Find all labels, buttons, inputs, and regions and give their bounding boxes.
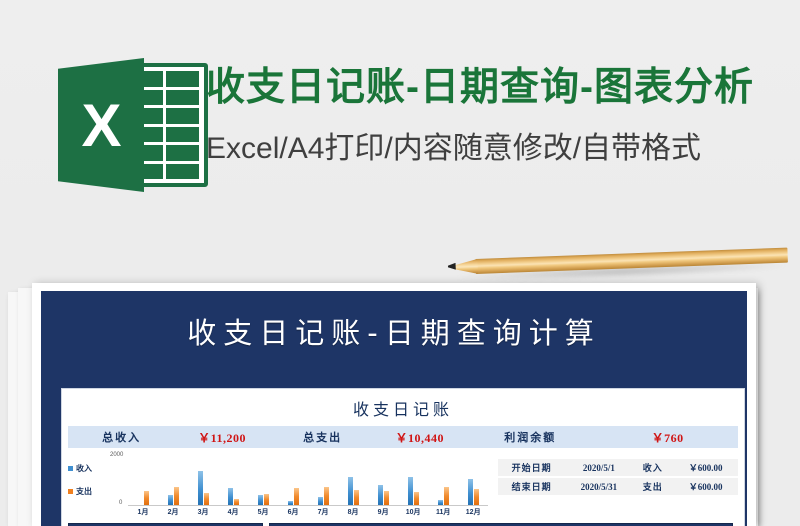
summary-label-total-income: 总收入	[68, 429, 175, 445]
chart-bar	[294, 488, 299, 505]
summary-label-total-expense: 总支出	[269, 429, 376, 445]
chart-bar-group	[278, 457, 308, 505]
chart-bar	[174, 487, 179, 505]
template-preview-sheet: 收支日记账-日期查询计算 收支日记账 总收入 ￥11,200 总支出 ￥10,4…	[32, 283, 756, 526]
chart-bars	[128, 457, 488, 506]
chart-bar-group	[428, 457, 458, 505]
x-axis-tick-label: 11月	[428, 507, 458, 519]
expense-amount: ￥600.00	[673, 480, 738, 493]
chart-bar	[474, 489, 479, 505]
date-query-table: 开始日期 2020/5/1 收入 ￥600.00 结束日期 2020/5/31 …	[490, 451, 738, 519]
template-navy-frame: 收支日记账-日期查询计算 收支日记账 总收入 ￥11,200 总支出 ￥10,4…	[41, 291, 747, 526]
x-axis-tick-label: 5月	[248, 507, 278, 519]
chart-bar	[204, 493, 209, 505]
chart-bar	[264, 494, 269, 505]
x-axis-tick-label: 2月	[158, 507, 188, 519]
x-axis-tick-label: 7月	[308, 507, 338, 519]
x-axis-tick-label: 4月	[218, 507, 248, 519]
summary-value-profit-balance: ￥760	[597, 429, 738, 446]
chart-bar	[414, 492, 419, 505]
pencil-tip-icon	[448, 263, 456, 270]
x-axis-tick-label: 1月	[128, 507, 158, 519]
start-date-label: 开始日期	[498, 461, 565, 474]
chart-bar	[384, 491, 389, 505]
chart-bar	[468, 479, 473, 505]
table-row: 结束日期 2020/5/31 支出 ￥600.00	[498, 478, 738, 497]
x-axis-tick-label: 6月	[278, 507, 308, 519]
summary-value-total-income: ￥11,200	[175, 429, 269, 446]
table-row: 开始日期 2020/5/1 收入 ￥600.00	[498, 459, 738, 478]
x-axis-tick-label: 8月	[338, 507, 368, 519]
chart-bar-group	[368, 457, 398, 505]
summary-label-profit-balance: 利润余额	[463, 429, 597, 445]
promo-banner: X 收支日记账-日期查询-图表分析 Excel/A4打印/内容随意修改/自带格式	[0, 0, 800, 250]
y-axis-tick-max: 2000	[110, 452, 123, 458]
banner-subtitle: Excel/A4打印/内容随意修改/自带格式	[206, 132, 701, 165]
chart-bar	[198, 471, 203, 505]
legend-label-expense: 支出	[76, 486, 92, 497]
chart-bar	[348, 477, 353, 505]
chart-plot-area: 2000 0 1月2月3月4月5月6月7月8月9月10月11月12月	[110, 451, 490, 519]
worksheet-panel: 收支日记账 总收入 ￥11,200 总支出 ￥10,440 利润余额 ￥760 …	[61, 388, 745, 526]
chart-bar-group	[398, 457, 428, 505]
chart-bar	[444, 487, 449, 505]
income-amount: ￥600.00	[673, 461, 738, 474]
legend-swatch-icon-income	[68, 466, 73, 471]
chart-bar	[228, 488, 233, 505]
x-axis-tick-label: 12月	[458, 507, 488, 519]
chart-bar	[288, 501, 293, 505]
summary-row: 总收入 ￥11,200 总支出 ￥10,440 利润余额 ￥760	[68, 426, 738, 448]
chart-bar	[318, 497, 323, 505]
x-axis-tick-label: 3月	[188, 507, 218, 519]
chart-bar-group	[458, 457, 488, 505]
legend-item-income: 收入	[68, 463, 110, 474]
banner-title: 收支日记账-日期查询-图表分析	[206, 68, 754, 107]
end-date-label: 结束日期	[498, 480, 565, 493]
excel-logo-letter: X	[58, 58, 144, 192]
chart-and-info-region: 收入 支出 2000 0 1月2月3月4月5月6月7月8月9月10月11月12月	[68, 451, 738, 519]
chart-bar	[354, 490, 359, 505]
chart-bar	[144, 491, 149, 505]
x-axis-tick-label: 10月	[398, 507, 428, 519]
chart-bar-group	[128, 457, 158, 505]
chart-bar	[378, 485, 383, 505]
chart-bar	[234, 499, 239, 505]
expense-label: 支出	[632, 480, 673, 493]
start-date-value: 2020/5/1	[565, 463, 632, 473]
document-title: 收支日记账-日期查询计算	[41, 291, 747, 348]
income-expense-bar-chart: 收入 支出 2000 0 1月2月3月4月5月6月7月8月9月10月11月12月	[68, 451, 490, 519]
legend-item-expense: 支出	[68, 486, 110, 497]
chart-bar-group	[188, 457, 218, 505]
chart-bar-group	[338, 457, 368, 505]
worksheet-heading: 收支日记账	[62, 389, 744, 424]
income-label: 收入	[632, 461, 673, 474]
chart-bar-group	[218, 457, 248, 505]
end-date-value: 2020/5/31	[565, 482, 632, 492]
legend-swatch-icon-expense	[68, 489, 73, 494]
legend-label-income: 收入	[76, 463, 92, 474]
chart-bar-group	[248, 457, 278, 505]
y-axis-tick-min: 0	[119, 500, 122, 506]
chart-bar	[408, 477, 413, 505]
x-axis-tick-label: 9月	[368, 507, 398, 519]
chart-legend: 收入 支出	[68, 451, 110, 519]
chart-bar	[258, 495, 263, 505]
summary-value-total-expense: ￥10,440	[376, 429, 463, 446]
chart-bar	[168, 495, 173, 505]
chart-x-axis-labels: 1月2月3月4月5月6月7月8月9月10月11月12月	[128, 507, 488, 519]
chart-bar	[324, 487, 329, 505]
chart-bar-group	[158, 457, 188, 505]
chart-bar	[438, 500, 443, 505]
chart-bar-group	[308, 457, 338, 505]
excel-logo: X	[58, 58, 210, 192]
